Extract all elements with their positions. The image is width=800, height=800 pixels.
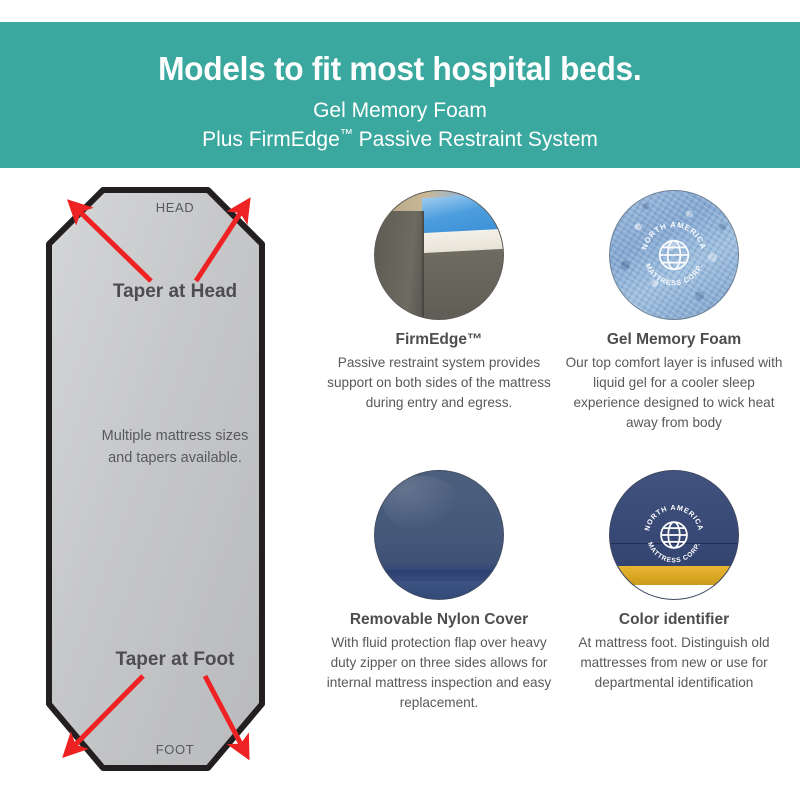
feature-description: At mattress foot. Distinguish old mattre… xyxy=(560,633,788,693)
feature-title: Color identifier xyxy=(560,611,788,630)
nylon-image-wrap xyxy=(374,470,504,600)
feature-description: Passive restraint system provides suppor… xyxy=(325,353,553,413)
head-label: HEAD xyxy=(45,200,305,215)
navy-cover-gold-band-photo: NORTH AMERICA MATTRESS CORP. xyxy=(609,470,739,600)
header-subtitle-pre: Plus FirmEdge xyxy=(202,128,340,151)
feature-title: Gel Memory Foam xyxy=(560,331,788,350)
feature-removable-nylon-cover: Removable Nylon Cover With fluid protect… xyxy=(325,470,553,713)
navy-nylon-cover-photo xyxy=(374,470,504,600)
mattress-note-line1: Multiple mattress sizes xyxy=(45,425,305,447)
taper-foot-label: Taper at Foot xyxy=(45,649,305,671)
firmedge-image-wrap xyxy=(374,190,504,320)
gel-image-wrap: NORTH AMERICA MATTRESS CORP. xyxy=(609,190,739,320)
mattress-note-line2: and tapers available. xyxy=(45,447,305,469)
mattress-shape xyxy=(49,190,262,768)
trademark-icon: ™ xyxy=(340,126,353,141)
mattress-note: Multiple mattress sizes and tapers avail… xyxy=(45,425,305,470)
header-subtitle-line2: Plus FirmEdge™ Passive Restraint System xyxy=(202,126,598,153)
feature-title: FirmEdge™ xyxy=(325,331,553,350)
header-banner: Models to fit most hospital beds. Gel Me… xyxy=(0,22,800,168)
feature-gel-memory-foam: NORTH AMERICA MATTRESS CORP. Gel Memory … xyxy=(560,190,788,433)
mattress-outline-svg xyxy=(0,176,340,796)
taper-head-label: Taper at Head xyxy=(45,281,305,303)
feature-firmedge: FirmEdge™ Passive restraint system provi… xyxy=(325,190,553,413)
foam-cross-section-photo xyxy=(374,190,504,320)
mattress-taper-diagram: HEAD Taper at Head Multiple mattress siz… xyxy=(0,176,340,796)
feature-description: Our top comfort layer is infused with li… xyxy=(560,353,788,433)
feature-title: Removable Nylon Cover xyxy=(325,611,553,630)
feature-grid: FirmEdge™ Passive restraint system provi… xyxy=(325,190,800,790)
page-title: Models to fit most hospital beds. xyxy=(158,50,641,88)
foot-label: FOOT xyxy=(45,742,305,757)
feature-color-identifier: NORTH AMERICA MATTRESS CORP. Color ident… xyxy=(560,470,788,693)
header-subtitle-line1: Gel Memory Foam xyxy=(313,97,487,124)
feature-description: With fluid protection flap over heavy du… xyxy=(325,633,553,713)
blue-gel-foam-photo: NORTH AMERICA MATTRESS CORP. xyxy=(609,190,739,320)
colorid-image-wrap: NORTH AMERICA MATTRESS CORP. xyxy=(609,470,739,600)
header-subtitle-post: Passive Restraint System xyxy=(353,128,598,151)
